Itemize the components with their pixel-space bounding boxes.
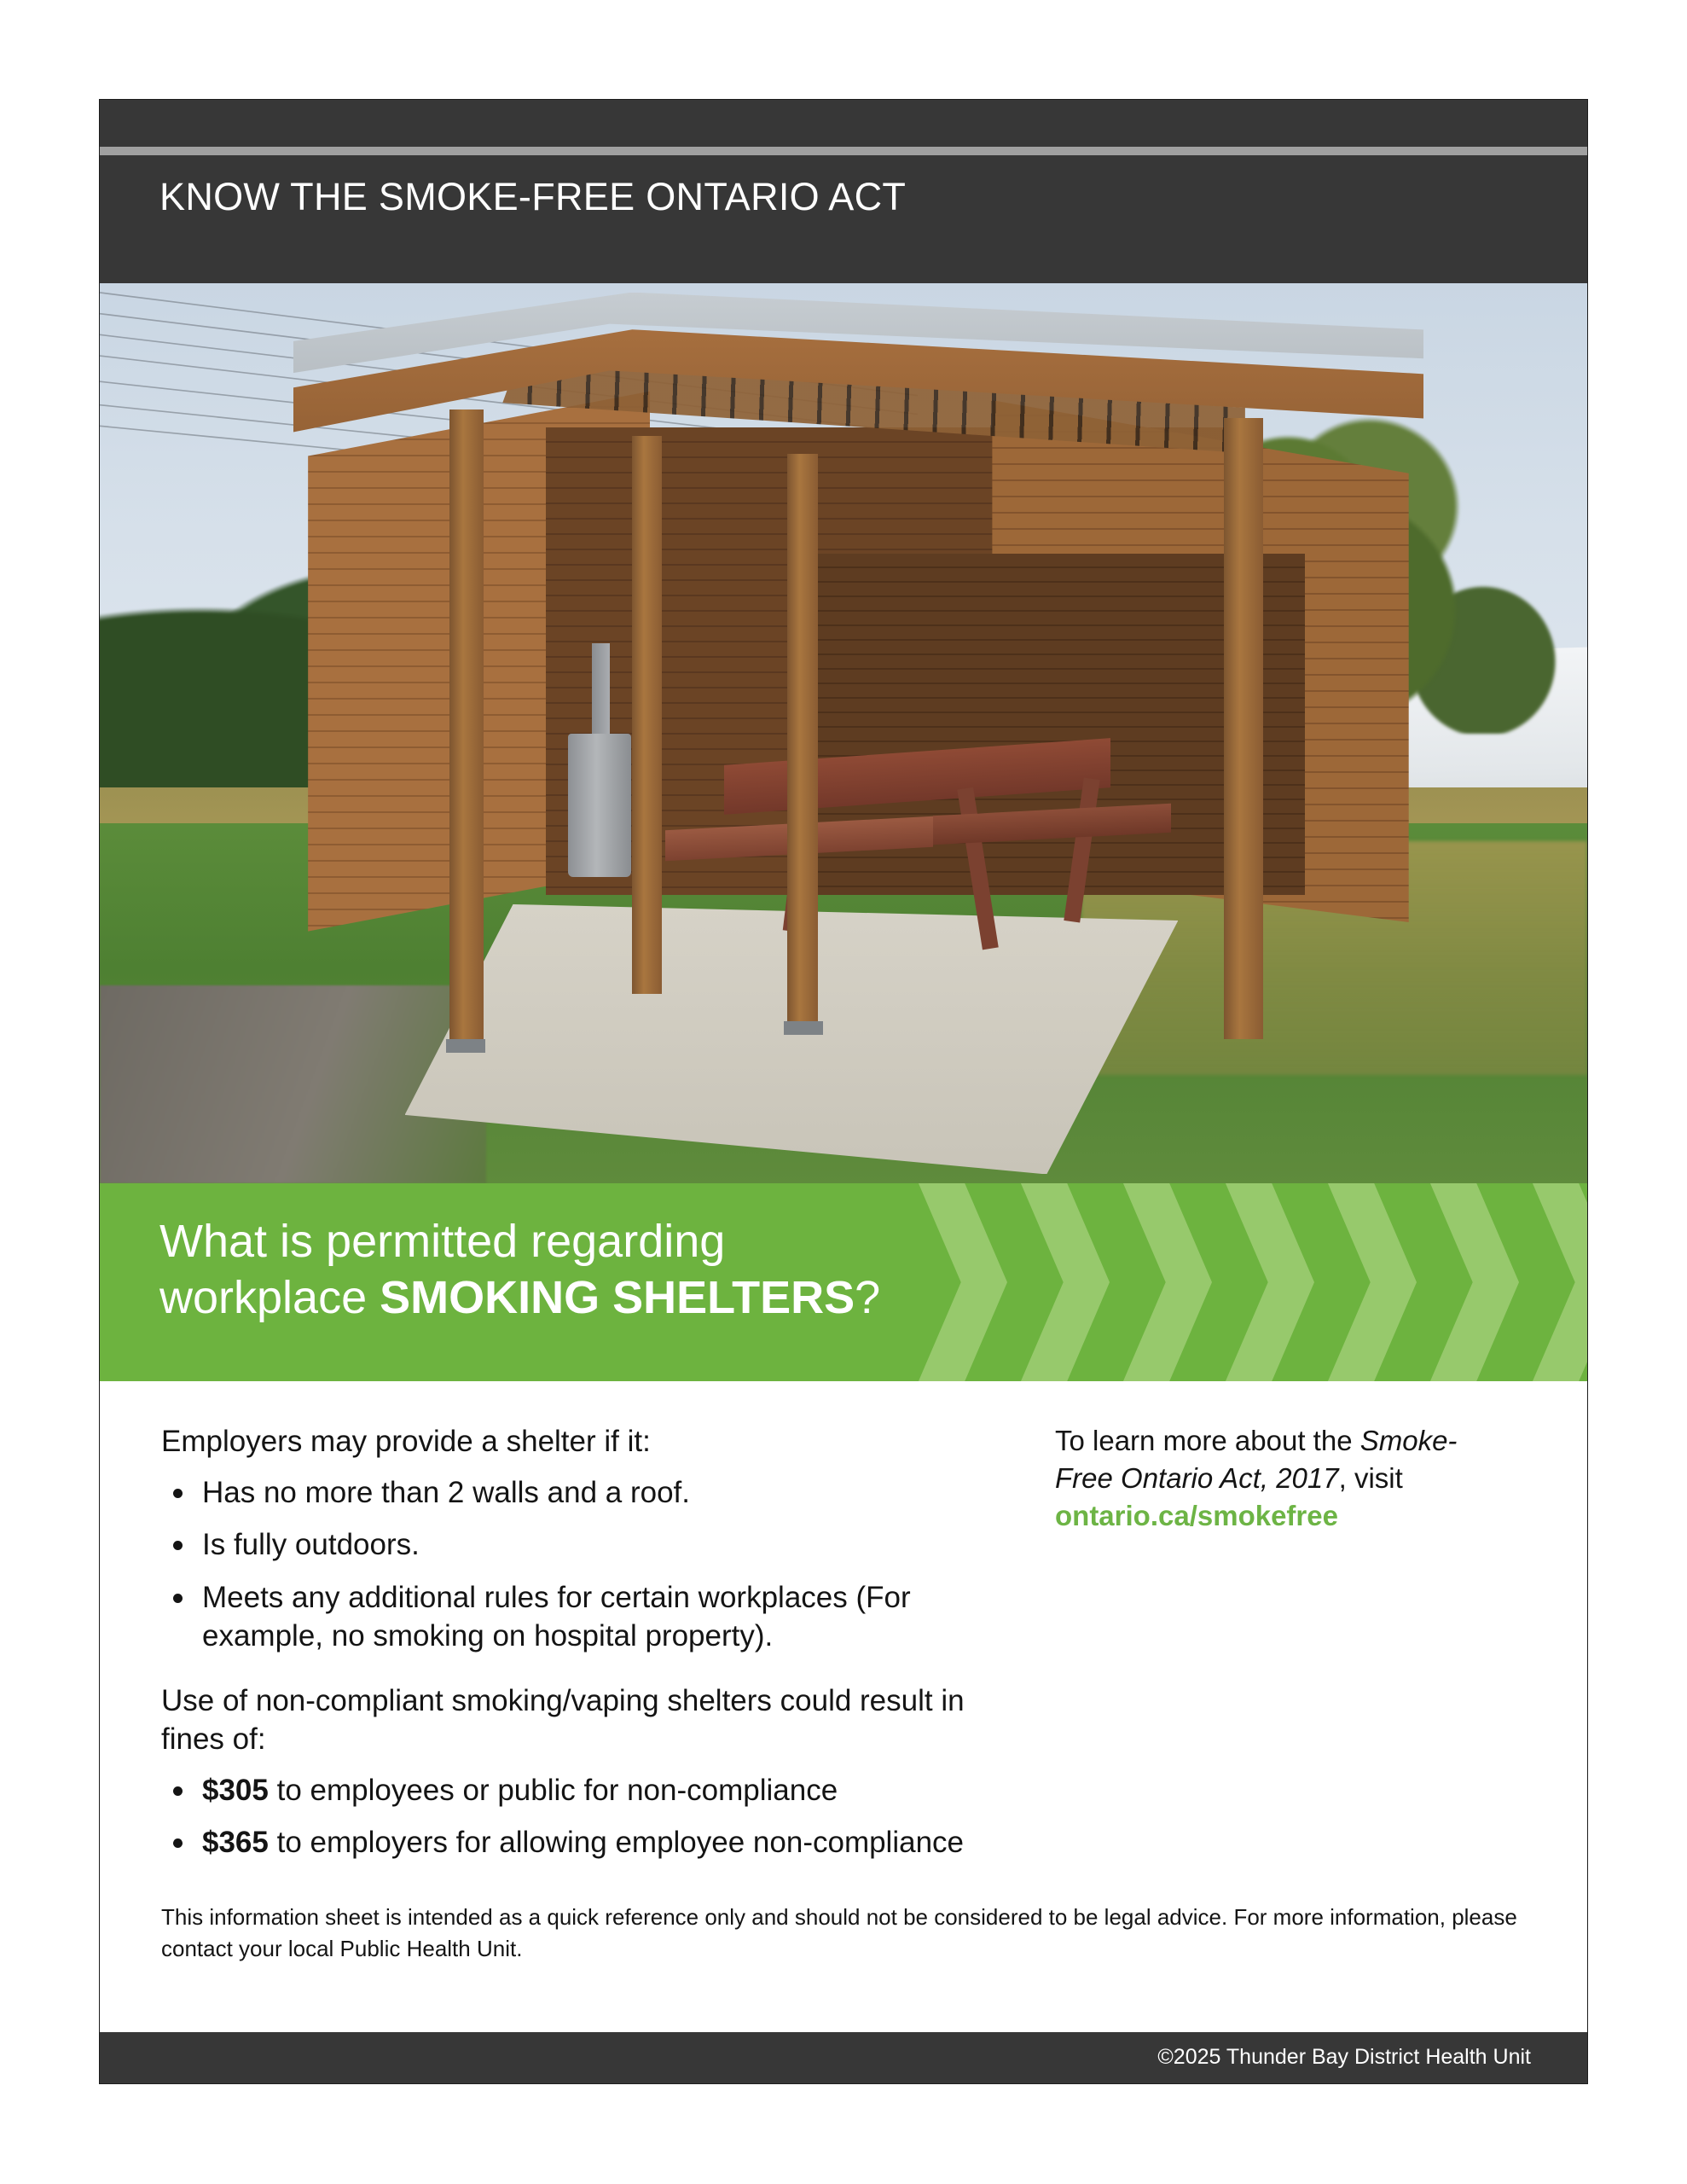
banner-heading: What is permitted regarding workplace SM… (159, 1214, 880, 1327)
chevron-icon (1521, 1183, 1587, 1381)
page-title: KNOW THE SMOKE-FREE ONTARIO ACT (159, 175, 906, 219)
left-column: Employers may provide a shelter if it: H… (161, 1422, 980, 1888)
chevron-icon (1111, 1183, 1212, 1381)
chevron-pattern (939, 1183, 1587, 1381)
disclaimer-text: This information sheet is intended as a … (161, 1902, 1526, 1966)
chevron-icon (1214, 1183, 1314, 1381)
banner-line-2-suffix: ? (855, 1272, 880, 1323)
list-item: Has no more than 2 walls and a roof. (202, 1473, 980, 1513)
copyright-text: ©2025 Thunder Bay District Health Unit (1157, 2045, 1531, 2070)
fact-sheet-page: KNOW THE SMOKE-FREE ONTARIO ACT (100, 100, 1587, 2083)
banner-line-1: What is permitted regarding (159, 1214, 880, 1270)
ontario-smokefree-link[interactable]: ontario.ca/smokefree (1055, 1497, 1481, 1535)
shelter-post (632, 436, 662, 994)
fine-amount: $365 (202, 1826, 269, 1859)
chevron-icon (1316, 1183, 1417, 1381)
ash-receptacle (568, 734, 630, 878)
content-area: Employers may provide a shelter if it: H… (100, 1381, 1587, 2034)
shelter-post (787, 454, 819, 1030)
list-item: Meets any additional rules for certain w… (202, 1578, 980, 1656)
fine-description: to employees or public for non-complianc… (269, 1774, 838, 1807)
shelter-rules-list: Has no more than 2 walls and a roof. Is … (161, 1473, 980, 1656)
banner-line-2-bold: SMOKING SHELTERS (380, 1272, 855, 1323)
post-base-bracket (446, 1039, 484, 1053)
chevron-icon (907, 1183, 1007, 1381)
question-banner: What is permitted regarding workplace SM… (100, 1183, 1587, 1381)
banner-line-2-prefix: workplace (159, 1272, 380, 1323)
shelter-post (449, 409, 484, 1048)
list-item: Is fully outdoors. (202, 1525, 980, 1565)
fines-list: $305 to employees or public for non-comp… (161, 1771, 980, 1862)
banner-line-2: workplace SMOKING SHELTERS? (159, 1270, 880, 1327)
learn-more-suffix: , visit (1339, 1462, 1403, 1494)
shelter-post (1224, 418, 1262, 1039)
fine-amount: $305 (202, 1774, 269, 1807)
learn-more-text: To learn more about the Smoke-Free Ontar… (1055, 1422, 1481, 1497)
chevron-icon (1418, 1183, 1519, 1381)
chevron-icon (1009, 1183, 1110, 1381)
list-item: $305 to employees or public for non-comp… (202, 1771, 980, 1810)
learn-more-line-1: To learn more about the (1055, 1425, 1353, 1456)
header-divider (100, 147, 1587, 155)
page-header: KNOW THE SMOKE-FREE ONTARIO ACT (100, 100, 1587, 283)
fines-lead-paragraph: Use of non-compliant smoking/vaping shel… (161, 1682, 980, 1759)
post-base-bracket (784, 1021, 822, 1035)
page-footer: ©2025 Thunder Bay District Health Unit (100, 2032, 1587, 2083)
smoking-shelter-photo (100, 283, 1587, 1183)
right-column: To learn more about the Smoke-Free Ontar… (1055, 1422, 1481, 1536)
lead-paragraph: Employers may provide a shelter if it: (161, 1422, 980, 1461)
list-item: $365 to employers for allowing employee … (202, 1823, 980, 1862)
fine-description: to employers for allowing employee non-c… (269, 1826, 964, 1859)
